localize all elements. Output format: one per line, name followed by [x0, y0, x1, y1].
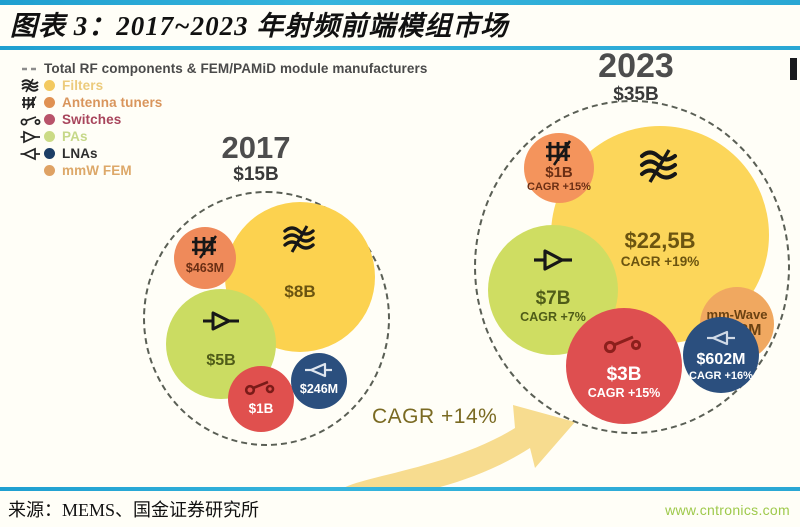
- watermark: www.cntronics.com: [665, 502, 790, 518]
- lna-amplifier-icon: [303, 361, 335, 384]
- antenna-tuner-icon: [18, 94, 44, 111]
- legend-label: Total RF components & FEM/PAMiD module m…: [44, 61, 427, 76]
- cluster-heading-2023: 2023 $35B: [546, 50, 726, 106]
- lna-amplifier-icon: [704, 329, 738, 352]
- cluster-year-label: 2017: [196, 132, 316, 164]
- bubble-value: $7B: [536, 289, 571, 309]
- bubble-2017-switches[interactable]: $1B: [228, 366, 294, 432]
- growth-arrow-label: CAGR +14%: [372, 405, 497, 429]
- legend-swatch: [44, 165, 55, 176]
- amplifier-icon: [18, 128, 44, 145]
- bubble-2023-lnas[interactable]: $602M CAGR +16%: [683, 317, 759, 393]
- legend-swatch: [44, 148, 55, 159]
- filter-waves-icon: [18, 77, 44, 94]
- legend-item-filters: Filters: [18, 77, 458, 94]
- bubble-value: $1B: [249, 402, 274, 416]
- bubble-value: $22,5B: [625, 229, 696, 252]
- bubble-value: $3B: [607, 365, 642, 385]
- legend-swatch: [44, 80, 55, 91]
- bubble-cagr: CAGR +19%: [621, 255, 699, 270]
- page-title: 图表 3：2017~2023 年射频前端模组市场: [10, 4, 508, 43]
- bubble-2023-switches[interactable]: $3B CAGR +15%: [566, 308, 682, 424]
- legend-swatch: [44, 114, 55, 125]
- legend-item-switches: Switches: [18, 111, 458, 128]
- bubble-value: $5B: [206, 353, 235, 370]
- bubble-cagr: CAGR +15%: [588, 387, 661, 401]
- amplifier-icon: [201, 309, 241, 338]
- bubble-value: $246M: [300, 383, 338, 396]
- bubble-cagr: CAGR +16%: [689, 370, 753, 382]
- bubble-2017-lnas[interactable]: $246M: [291, 353, 347, 409]
- bubble-value: $8B: [284, 283, 315, 301]
- switch-icon: [18, 111, 44, 128]
- switch-icon: [602, 330, 646, 359]
- legend-label: PAs: [62, 129, 88, 144]
- bubble-cagr: CAGR +7%: [520, 311, 586, 325]
- cluster-year-label: 2023: [546, 50, 726, 84]
- legend-item-total: Total RF components & FEM/PAMiD module m…: [18, 60, 458, 77]
- lna-amplifier-icon: [18, 145, 44, 162]
- bottom-divider: [0, 487, 800, 491]
- figure-page: 图表 3：2017~2023 年射频前端模组市场 Total RF compon…: [0, 0, 800, 527]
- legend-label: Antenna tuners: [62, 95, 162, 110]
- legend-label: LNAs: [62, 146, 98, 161]
- bubble-value: $602M: [697, 352, 746, 369]
- legend-item-antenna-tuners: Antenna tuners: [18, 94, 458, 111]
- antenna-tuner-icon: [188, 234, 222, 265]
- legend-swatch: [44, 97, 55, 108]
- cluster-total-label: $15B: [196, 164, 316, 186]
- chart-canvas: Total RF components & FEM/PAMiD module m…: [0, 50, 800, 487]
- antenna-tuner-icon: [541, 139, 577, 172]
- bubble-cagr: CAGR +15%: [527, 181, 591, 193]
- amplifier-icon: [532, 247, 574, 278]
- dashed-line-icon: [18, 60, 44, 77]
- filter-waves-icon: [637, 148, 683, 189]
- bubble-2023-antenna-tuners[interactable]: $1B CAGR +15%: [524, 133, 594, 203]
- legend-label: Switches: [62, 112, 121, 127]
- switch-icon: [244, 376, 278, 401]
- legend-label: mmW FEM: [62, 163, 132, 178]
- mmw-fem-icon: [18, 162, 44, 179]
- bubble-2017-antenna-tuners[interactable]: $463M: [174, 227, 236, 289]
- cluster-heading-2017: 2017 $15B: [196, 132, 316, 185]
- source-note: 来源：MEMS、国金证券研究所: [8, 496, 259, 522]
- legend-swatch: [44, 131, 55, 142]
- legend-label: Filters: [62, 78, 103, 93]
- filter-waves-icon: [281, 224, 319, 259]
